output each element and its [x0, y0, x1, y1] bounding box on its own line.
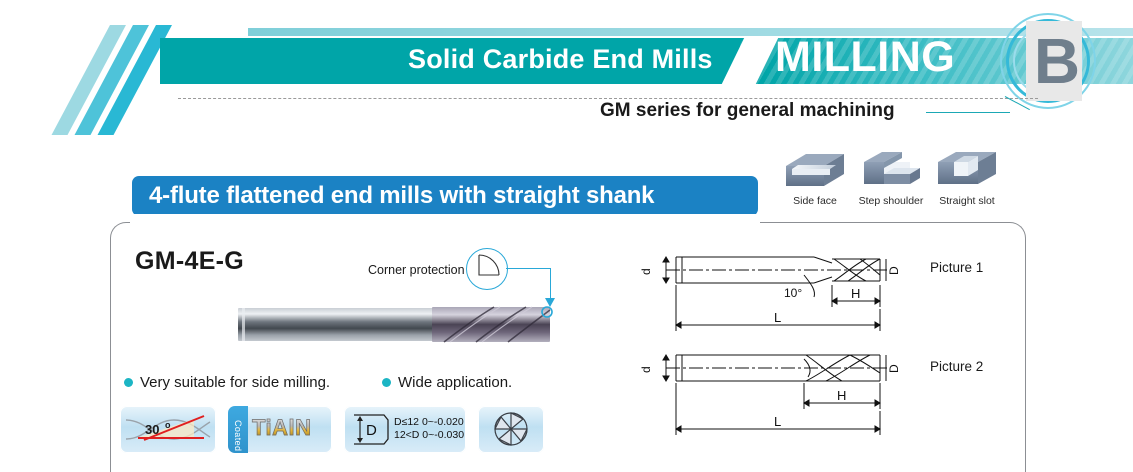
picture-2-caption: Picture 2 — [930, 359, 983, 374]
application-icon-group: Side face Step shoulder — [778, 148, 1028, 218]
svg-text:o: o — [165, 420, 171, 430]
application-step-shoulder: Step shoulder — [854, 148, 928, 207]
diameter-symbol-icon: D — [344, 406, 392, 453]
category-title: MILLING — [775, 33, 955, 82]
dim-d: d — [639, 268, 653, 275]
feature-bullet: Very suitable for side milling. — [124, 374, 330, 391]
picture-1-caption: Picture 1 — [930, 260, 983, 275]
badge-letter: B — [1026, 21, 1088, 101]
application-label: Step shoulder — [854, 195, 928, 207]
drawing-picture-1: d D 10° H L — [636, 245, 936, 345]
application-label: Side face — [778, 195, 852, 207]
svg-text:D: D — [366, 422, 377, 439]
corner-protection-detail-icon — [466, 248, 508, 290]
section-badge: B — [1000, 13, 1096, 109]
callout-leader-vertical — [550, 268, 551, 302]
tolerance-values: D≤12 0~-0.020 12<D 0~-0.030 — [394, 416, 464, 442]
dim-L: L — [774, 310, 781, 325]
page-subtitle: GM series for general machining — [600, 100, 895, 122]
spec-flute-count — [478, 406, 544, 453]
tolerance-row: 12<D 0~-0.030 — [394, 429, 464, 442]
dim-D: D — [887, 266, 901, 275]
dim-d: d — [639, 366, 653, 373]
step-shoulder-icon — [854, 148, 928, 194]
feature-text: Wide application. — [398, 374, 512, 391]
page-title: Solid Carbide End Mills — [408, 44, 713, 75]
subtitle-connector-line — [926, 112, 1010, 113]
spec-tolerance: D D≤12 0~-0.020 12<D 0~-0.030 — [344, 406, 466, 453]
page-header: Solid Carbide End Mills MILLING B GM ser… — [0, 0, 1133, 130]
dim-D: D — [887, 364, 901, 373]
coated-tab: Coated — [228, 406, 248, 453]
product-photo — [238, 300, 556, 348]
product-code: GM-4E-G — [135, 247, 244, 276]
header-dashed-rule — [178, 98, 1038, 99]
tolerance-row: D≤12 0~-0.020 — [394, 416, 464, 429]
dim-angle: 10° — [784, 286, 802, 300]
bullet-dot-icon — [124, 378, 133, 387]
spec-helix-angle: 30 o — [120, 406, 216, 453]
corner-protection-label: Corner protection — [368, 263, 465, 277]
dim-H: H — [837, 388, 846, 403]
coating-name: TiAlN — [252, 415, 312, 441]
straight-slot-icon — [930, 148, 1004, 194]
helix-angle-value: 30 — [145, 422, 159, 437]
dim-H: H — [851, 286, 860, 301]
dim-L: L — [774, 414, 781, 429]
feature-bullet: Wide application. — [382, 374, 512, 391]
four-flute-cross-section-icon — [478, 406, 544, 453]
application-label: Straight slot — [930, 195, 1004, 207]
spec-coating: Coated TiAlN — [228, 406, 332, 453]
feature-text: Very suitable for side milling. — [140, 374, 330, 391]
application-side-face: Side face — [778, 148, 852, 207]
side-face-icon — [778, 148, 852, 194]
application-straight-slot: Straight slot — [930, 148, 1004, 207]
callout-leader-line — [506, 268, 551, 269]
drawing-picture-2: d D H L — [636, 343, 936, 453]
coated-label: Coated — [233, 420, 243, 440]
section-title-bar: 4-flute flattened end mills with straigh… — [132, 176, 758, 216]
bullet-dot-icon — [382, 378, 391, 387]
card-title-notch — [130, 214, 760, 224]
